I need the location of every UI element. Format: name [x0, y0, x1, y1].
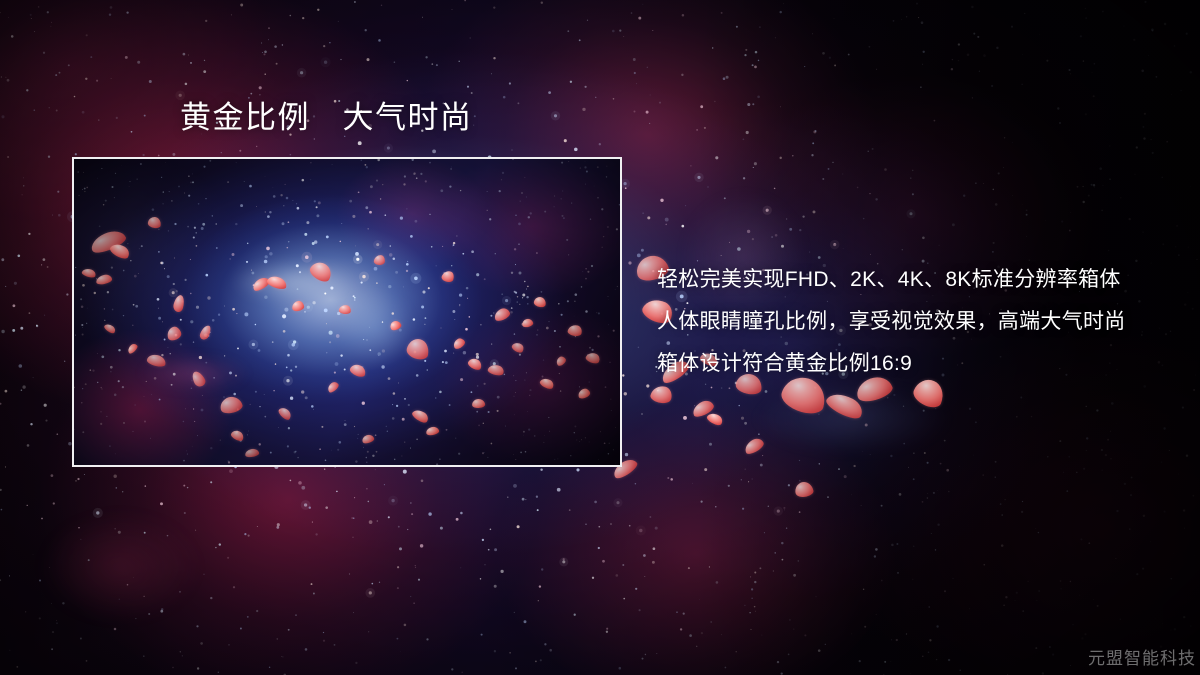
feature-line-2: 人体眼睛瞳孔比例，享受视觉效果，高端大气时尚 — [657, 301, 1126, 343]
feature-line-1: 轻松完美实现FHD、2K、4K、8K标准分辨率箱体 — [657, 259, 1126, 301]
feature-description: 轻松完美实现FHD、2K、4K、8K标准分辨率箱体 人体眼睛瞳孔比例，享受视觉效… — [657, 259, 1126, 385]
watermark: 元盟智能科技 — [1088, 644, 1196, 669]
panel-vignette — [74, 159, 620, 465]
slide-canvas: 黄金比例 大气时尚 轻松完美实现FHD、2K、4K、8K标准分辨率箱体 人体眼睛… — [0, 0, 1200, 675]
framed-image-panel[interactable] — [72, 157, 622, 467]
feature-line-3: 箱体设计符合黄金比例16:9 — [657, 343, 1126, 385]
page-title: 黄金比例 大气时尚 — [180, 102, 473, 133]
